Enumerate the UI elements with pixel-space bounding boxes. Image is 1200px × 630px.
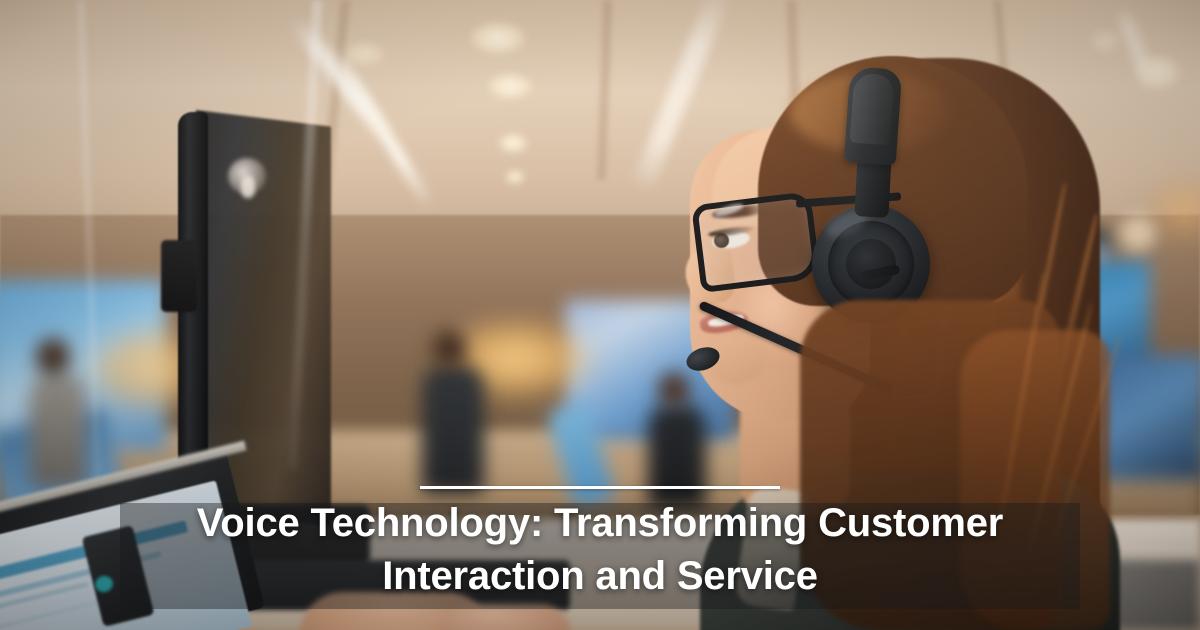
headset-earcup-center — [846, 239, 896, 289]
headset-headband-pad — [850, 73, 895, 146]
page-title: Voice Technology: Transforming CustomerI… — [120, 497, 1080, 603]
title-divider-rule — [420, 486, 780, 489]
title-line-2: Interaction and Service — [382, 554, 818, 598]
hero-banner: Voice Technology: Transforming CustomerI… — [0, 0, 1200, 630]
title-line-1: Voice Technology: Transforming Customer — [197, 501, 1003, 545]
